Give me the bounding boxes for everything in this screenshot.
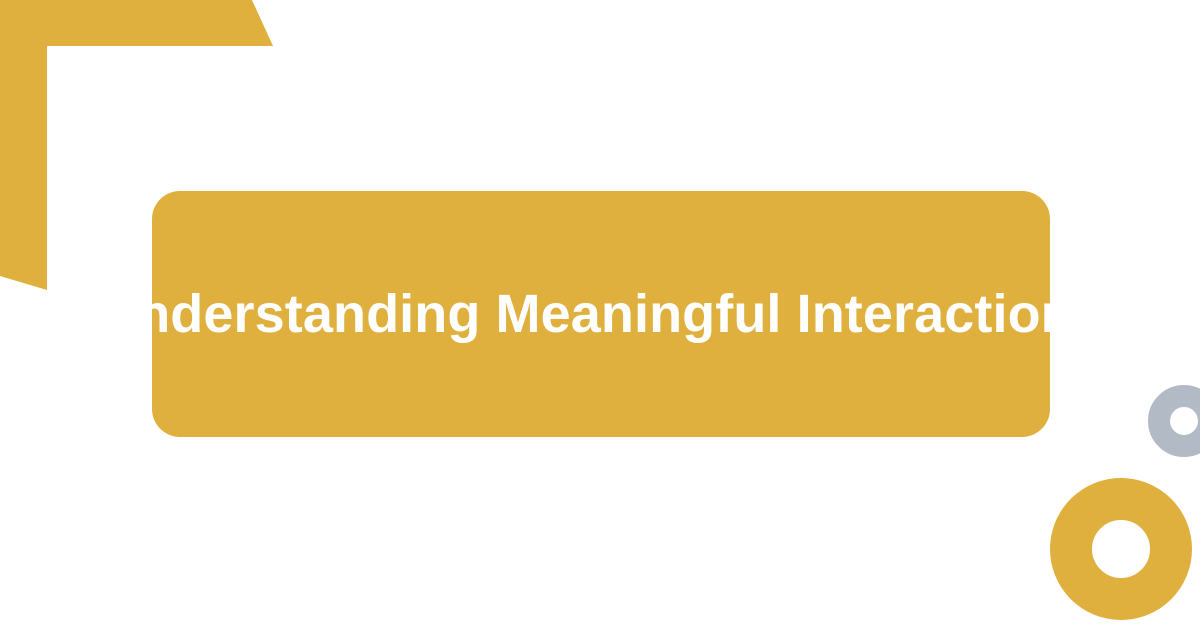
banner-canvas: Understanding Meaningful Interactions bbox=[0, 0, 1200, 630]
page-title: Understanding Meaningful Interactions bbox=[98, 283, 1104, 345]
gray-ring-icon bbox=[1148, 385, 1200, 457]
gold-ring-icon bbox=[1050, 478, 1192, 620]
title-card: Understanding Meaningful Interactions bbox=[152, 191, 1050, 437]
